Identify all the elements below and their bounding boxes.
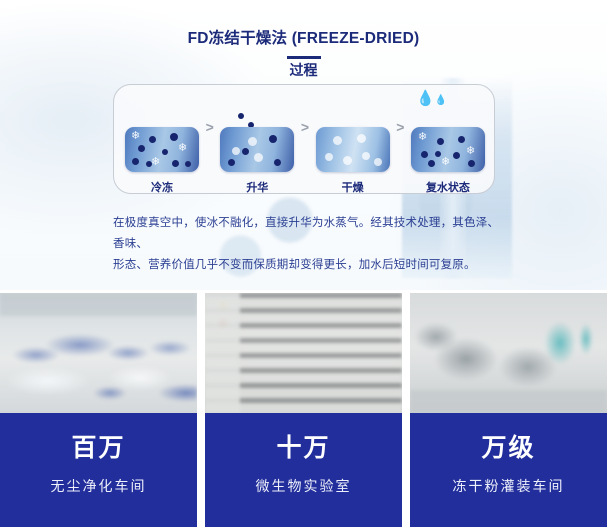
panel-caption-text: 微生物实验室 <box>256 476 352 496</box>
panel-number: 十万 <box>276 428 330 464</box>
process-step-rehydrated: 💧💧 ❄ ❄ ❄ 复水状态 <box>408 95 488 195</box>
void-dot <box>248 137 257 146</box>
void-dot <box>333 136 342 145</box>
process-step-sublimation: 升华 <box>217 95 297 195</box>
process-step-dry: 干燥 <box>313 95 393 195</box>
microbiology-lab-photo <box>205 293 402 413</box>
particle-dot <box>149 136 156 143</box>
particle-dot <box>132 158 139 165</box>
particle-dot <box>228 159 235 166</box>
snowflake-icon: ❄ <box>466 146 475 157</box>
water-droplet-icon: 💧💧 <box>416 91 447 108</box>
particle-dot <box>453 152 460 159</box>
step-arrow-icon: > <box>301 119 309 135</box>
freeze-dried-section: FD冻结干燥法 (FREEZE-DRIED) 过程 ❄ ❄ ❄ <box>0 0 607 290</box>
title-divider <box>287 56 321 59</box>
filling-workshop-photo <box>410 293 607 413</box>
facility-panel-cleanroom[interactable]: 百万 无尘净化车间 <box>0 293 197 527</box>
vial-rehydrated-icon: ❄ ❄ ❄ <box>411 127 485 172</box>
void-dot <box>357 134 366 143</box>
particle-dot <box>428 160 435 167</box>
process-steps: ❄ ❄ ❄ 冷冻 > <box>114 85 496 195</box>
panel-number: 百万 <box>71 428 125 464</box>
snowflake-icon: ❄ <box>441 157 450 168</box>
void-dot <box>362 152 370 160</box>
particle-dot <box>468 160 475 167</box>
panel-number: 万级 <box>481 428 535 464</box>
void-dot <box>254 153 263 162</box>
particle-dot <box>458 136 465 143</box>
void-dot <box>232 147 240 155</box>
snowflake-icon: ❄ <box>418 132 427 143</box>
process-step-label: 干燥 <box>342 179 364 195</box>
cleanroom-photo <box>0 293 197 413</box>
facility-panel-microbiology-lab[interactable]: 十万 微生物实验室 <box>205 293 402 527</box>
step-arrow-icon: > <box>206 119 214 135</box>
particle-dot <box>138 145 145 152</box>
particle-dot <box>421 151 428 158</box>
panel-caption-text: 无尘净化车间 <box>51 476 147 496</box>
process-step-label: 升华 <box>246 179 268 195</box>
process-step-freeze: ❄ ❄ ❄ 冷冻 <box>122 95 202 195</box>
vial-frozen-icon: ❄ ❄ ❄ <box>125 127 199 172</box>
particle-dot <box>274 159 281 166</box>
panel-caption-text: 冻干粉灌装车间 <box>453 476 565 496</box>
process-step-label: 冷冻 <box>151 179 173 195</box>
snowflake-icon: ❄ <box>131 131 140 142</box>
description-line-1: 在极度真空中，使冰不融化，直接升华为水蒸气。经其技术处理，其色泽、香味、 <box>113 213 508 255</box>
description-line-2: 形态、营养价值几乎不变而保质期却变得更长，加水后短时间可复原。 <box>113 255 508 276</box>
particle-dot <box>172 160 179 167</box>
facility-panels: 百万 无尘净化车间 十万 微生物实验室 万级 冻干粉灌装车间 <box>0 293 607 527</box>
page-title: FD冻结干燥法 (FREEZE-DRIED) <box>0 26 607 48</box>
particle-dot <box>185 161 191 167</box>
escaping-vapor-dot <box>238 113 244 119</box>
void-dot <box>374 158 382 166</box>
panel-caption: 万级 冻干粉灌装车间 <box>410 413 607 527</box>
process-diagram-card: ❄ ❄ ❄ 冷冻 > <box>113 84 495 194</box>
particle-dot <box>170 133 178 141</box>
facility-panel-filling-workshop[interactable]: 万级 冻干粉灌装车间 <box>410 293 607 527</box>
particle-dot <box>269 135 277 143</box>
particle-dot <box>162 149 168 155</box>
process-step-label: 复水状态 <box>426 179 470 195</box>
snowflake-icon: ❄ <box>178 143 187 154</box>
section-subtitle: 过程 <box>0 60 607 80</box>
particle-dot <box>242 148 249 155</box>
vial-sublimation-icon <box>220 127 294 172</box>
void-dot <box>343 156 352 165</box>
process-description: 在极度真空中，使冰不融化，直接升华为水蒸气。经其技术处理，其色泽、香味、 形态、… <box>113 213 508 276</box>
particle-dot <box>435 151 441 157</box>
snowflake-icon: ❄ <box>151 157 160 168</box>
panel-caption: 百万 无尘净化车间 <box>0 413 197 527</box>
void-dot <box>325 153 333 161</box>
particle-dot <box>146 161 152 167</box>
panel-caption: 十万 微生物实验室 <box>205 413 402 527</box>
particle-dot <box>437 138 444 145</box>
step-arrow-icon: > <box>396 119 404 135</box>
vial-dried-icon <box>316 127 390 172</box>
